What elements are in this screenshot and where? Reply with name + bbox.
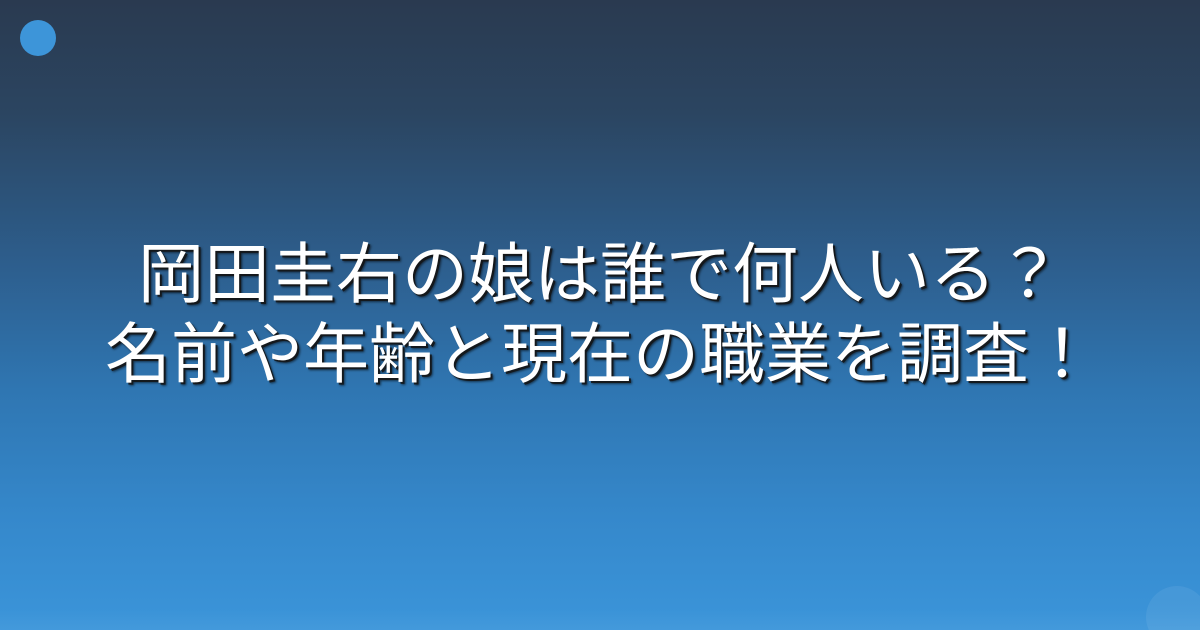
ogp-card: 岡田圭右の娘は誰で何人いる？ 名前や年齢と現在の職業を調査！	[0, 0, 1200, 630]
page-title: 岡田圭右の娘は誰で何人いる？ 名前や年齢と現在の職業を調査！	[0, 0, 1200, 630]
page-title-line-1: 岡田圭右の娘は誰で何人いる？	[0, 235, 1200, 315]
page-title-line-2: 名前や年齢と現在の職業を調査！	[0, 315, 1200, 395]
